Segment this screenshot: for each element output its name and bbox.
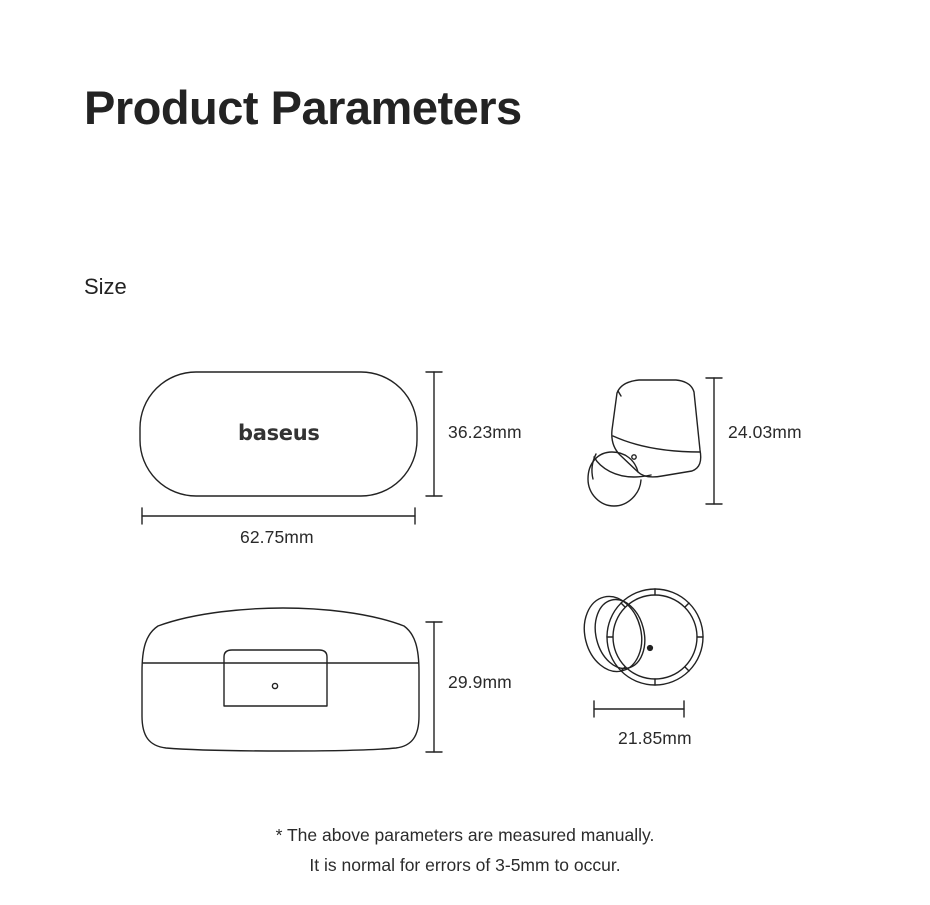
footnote-line-2: It is normal for errors of 3-5mm to occu… — [0, 850, 930, 880]
dimension-label-case-depth: 29.9mm — [448, 672, 512, 693]
dimension-line-case-depth — [426, 622, 442, 752]
technical-drawings-svg — [0, 0, 930, 905]
case-indent-panel — [224, 650, 327, 706]
size-diagram-area: baseus 36.23mm 62.75mm 24.03mm 29.9mm 21… — [0, 0, 930, 905]
baseus-logo: baseus — [238, 421, 320, 445]
earbud-top-notch — [618, 391, 621, 396]
earbud-front-view-drawing — [577, 589, 703, 685]
microphone-dot — [632, 455, 636, 459]
dimension-line-case-width — [142, 508, 415, 524]
product-parameters-page: Product Parameters Size — [0, 0, 930, 905]
case-front-outline — [142, 608, 419, 751]
dimension-label-case-width: 62.75mm — [240, 527, 314, 548]
earbud-body-seam — [613, 436, 700, 452]
dimension-line-case-height — [426, 372, 442, 496]
dimension-line-bud-width — [594, 701, 684, 717]
microphone-dot — [648, 646, 653, 651]
charging-case-front-view-drawing — [142, 608, 419, 751]
earbud-body-outline — [612, 380, 701, 477]
footnote-line-1: * The above parameters are measured manu… — [0, 820, 930, 850]
eartip-rim — [594, 457, 651, 477]
ring-segment-tick — [621, 603, 625, 607]
dimension-line-bud-height — [706, 378, 722, 504]
dimension-label-bud-height: 24.03mm — [728, 422, 802, 443]
dimension-label-case-height: 36.23mm — [448, 422, 522, 443]
ring-segment-tick — [685, 603, 689, 607]
earbud-side-view-drawing — [588, 380, 701, 506]
dimension-label-bud-width: 21.85mm — [618, 728, 692, 749]
ring-segment-tick — [685, 667, 689, 671]
eartip-rim-edge — [592, 454, 596, 479]
bud-ring-segments — [607, 589, 703, 685]
bud-face-inner-circle — [613, 595, 697, 679]
led-indicator-dot — [272, 683, 277, 688]
